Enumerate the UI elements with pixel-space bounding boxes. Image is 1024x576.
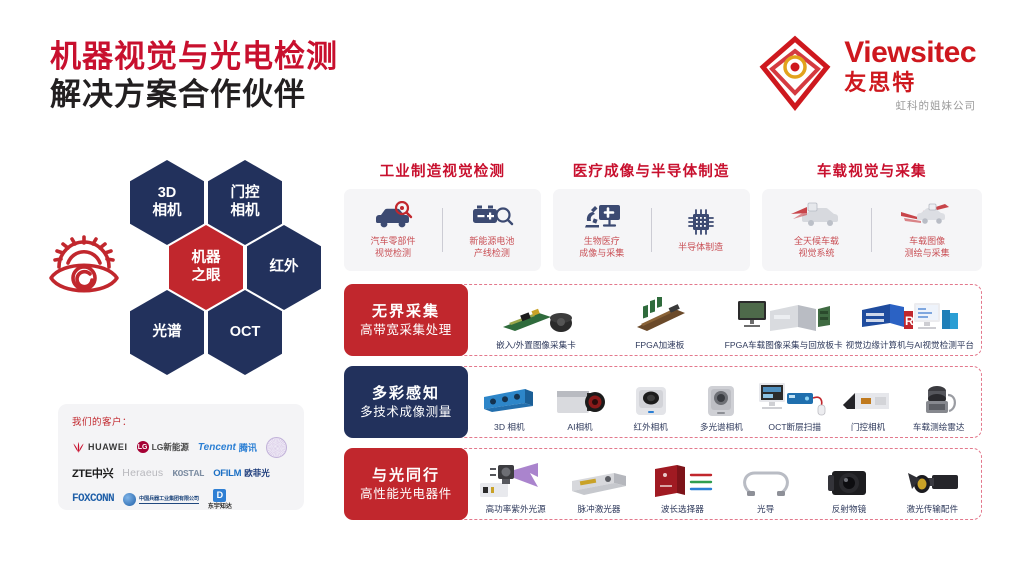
customers-panel: 我们的客户： HUAWEI LG LG新能源 [58,404,304,510]
product-label: FPGA加速板 [635,340,684,350]
product-row-imaging: 多彩感知 多技术成像测量 3D 相机 [344,366,982,438]
row-badge-title: 无界采集 [372,302,440,322]
category-cell-label: 全天候车载 视觉系统 [794,235,839,259]
customers-title: 我们的客户： [72,414,292,428]
edge-ai-platform-icon: R [860,297,960,337]
product-item[interactable]: 红外相机 [615,366,686,438]
product-label: 多光谱相机 [700,422,743,432]
row-badge-subtitle: 高性能光电器件 [360,486,452,502]
category-cell[interactable]: 车载图像 测绘与采集 [872,201,982,259]
product-item[interactable]: 车载测绘雷达 [903,366,974,438]
product-rows: 无界采集 高带宽采集处理 [344,284,982,530]
page-title-line2: 解决方案合作伙伴 [50,76,338,114]
category-cell-label: 新能源电池 产线检测 [469,235,514,259]
product-label: 3D 相机 [494,422,525,432]
wavelength-selector-icon [649,461,715,501]
slide-root: 机器视觉与光电检测 解决方案合作伙伴 Viewsitec 友思特 虹科的姐妹公司 [0,0,1024,576]
3d-camera-icon [481,379,537,419]
hex-infrared[interactable]: 红外 [247,225,321,310]
microscope-monitor-icon [581,201,623,231]
category-body: 全天候车载 视觉系统 [762,189,982,271]
uv-light-source-icon [478,461,554,501]
battery-inspection-icon [470,201,514,231]
huawei-wordmark: HUAWEI [88,442,128,452]
product-item[interactable]: 反射物镜 [807,448,890,520]
hex-label-line2: 相机 [231,203,260,220]
fpga-automotive-capture-icon [736,297,832,337]
lg-energy-wordmark: LG新能源 [152,441,189,453]
product-label: 激光传输配件 [907,504,959,514]
hex-label-line1: 光谱 [153,324,182,341]
product-item[interactable]: FPGA车载图像采集与回放板卡 [722,284,846,356]
norinco-wordmark: 中国兵器工业集团有限公司 [139,495,199,504]
brand-name-cn: 友思特 [844,70,976,95]
customer-logo-row: ZTE中兴 Heraeus KOSTAL OFILM 欧菲光 [72,461,292,485]
reflective-objective-icon [824,461,874,501]
huawei-logo: HUAWEI [72,441,128,453]
pulsed-laser-icon [568,461,630,501]
product-label: AI相机 [567,422,592,432]
lidar-car-icon [788,201,844,231]
product-label: 波长选择器 [661,504,704,514]
viewsitec-diamond-icon [756,34,834,112]
product-item[interactable]: 高功率紫外光源 [474,448,557,520]
product-label: OCT断层扫描 [768,422,821,432]
frame-grabber-card-icon [499,297,573,337]
hex-label-line1: 3D [158,185,177,202]
gated-camera-icon [841,379,895,419]
row-badge-acquisition[interactable]: 无界采集 高带宽采集处理 [344,284,468,356]
application-categories: 工业制造视觉检测 [344,160,982,271]
product-item[interactable]: 脉冲激光器 [557,448,640,520]
product-item[interactable]: 多光谱相机 [686,366,757,438]
hex-spectrum[interactable]: 光谱 [130,290,204,375]
row-items: 3D 相机 AI相机 [474,366,974,438]
ofilm-wordmark-cn: 欧菲光 [244,467,270,479]
page-title-line1: 机器视觉与光电检测 [50,38,338,76]
hex-label-line1: 门控 [231,185,260,202]
hex-3d-camera[interactable]: 3D 相机 [130,160,204,245]
light-guide-icon [739,461,793,501]
category-industrial: 工业制造视觉检测 [344,160,541,271]
brand-name-en: Viewsitec [844,38,976,68]
product-row-acquisition: 无界采集 高带宽采集处理 [344,284,982,356]
category-cell[interactable]: 新能源电池 产线检测 [443,201,541,259]
category-medical-semiconductor: 医疗成像与半导体制造 [553,160,750,271]
row-items: 嵌入/外置图像采集卡 [474,284,974,356]
category-cell[interactable]: 汽车零部件 视觉检测 [344,201,442,259]
product-label: 视觉边缘计算机与AI视觉检测平台 [846,340,974,350]
product-row-photonics: 与光同行 高性能光电器件 [344,448,982,520]
dongyu-wordmark: 东宇知达 [208,504,232,510]
hex-oct[interactable]: OCT [208,290,282,375]
hex-label-line2: 相机 [153,203,182,220]
row-badge-title: 与光同行 [372,466,440,486]
product-item[interactable]: AI相机 [545,366,616,438]
product-item[interactable]: 波长选择器 [641,448,724,520]
customer-logo-row: HUAWEI LG LG新能源 Tencent 腾讯 [72,435,292,459]
row-items: 高功率紫外光源 脉冲激光器 [474,448,974,520]
product-label: 光导 [757,504,774,514]
ofilm-wordmark: OFILM [213,468,241,479]
oct-scanner-icon [757,379,833,419]
laser-delivery-accessory-icon [902,461,962,501]
tencent-wordmark: Tencent [198,442,236,453]
row-badge-subtitle: 高带宽采集处理 [360,322,452,338]
product-item[interactable]: 激光传输配件 [891,448,974,520]
fpga-accelerator-board-icon [629,297,691,337]
customer-logo-row: FOXCONN 中国兵器工业集团有限公司 D 东宇知达 [72,487,292,511]
zte-logo: ZTE中兴 [72,465,113,481]
car-inspection-icon [373,201,413,231]
machine-eye-hex-cluster: 3D 相机 门控 相机 机器 之眼 红外 光谱 OCT [42,160,317,380]
huawei-flower-icon [72,441,85,453]
circular-seal-logo [266,437,287,458]
ai-camera-icon [553,379,607,419]
foxconn-logo: FOXCONN [72,493,114,505]
category-cell-label: 汽车零部件 视觉检测 [370,235,415,259]
product-item[interactable]: 3D 相机 [474,366,545,438]
product-item[interactable]: OCT断层扫描 [757,366,833,438]
row-badge-photonics[interactable]: 与光同行 高性能光电器件 [344,448,468,520]
category-body: 生物医疗 成像与采集 [553,189,750,271]
product-label: FPGA车载图像采集与回放板卡 [725,340,843,350]
norinco-logo: 中国兵器工业集团有限公司 [123,493,199,506]
infrared-camera-icon [631,379,671,419]
tencent-wordmark-cn: 腾讯 [239,441,257,454]
product-label: 红外相机 [633,422,667,432]
product-label: 反射物镜 [832,504,866,514]
hex-label-line2: 之眼 [192,268,221,285]
category-cell-label: 车载图像 测绘与采集 [905,235,950,259]
kostal-logo: KOSTAL [172,468,204,479]
brand-tagline: 虹科的姐妹公司 [844,98,976,113]
multispectral-camera-icon [702,379,740,419]
category-body: 汽车零部件 视觉检测 [344,189,541,271]
globe-icon [123,493,136,506]
category-cell[interactable]: 半导体制造 [652,207,750,253]
category-cell[interactable]: 全天候车载 视觉系统 [762,201,872,259]
hex-label-line1: 机器 [192,250,221,267]
product-label: 高功率紫外光源 [486,504,546,514]
tencent-logo: Tencent 腾讯 [198,441,257,454]
product-label: 嵌入/外置图像采集卡 [496,340,576,350]
product-item[interactable]: 门控相机 [833,366,904,438]
semiconductor-chip-icon [685,207,717,237]
row-badge-subtitle: 多技术成像测量 [360,404,452,420]
product-label: 脉冲激光器 [578,504,621,514]
hex-label-line1: 红外 [270,259,299,276]
product-label: 门控相机 [851,422,885,432]
eye-gear-icon [46,230,122,306]
dongyu-mark-icon: D [213,489,226,502]
product-item[interactable]: R 视觉边缘计算机与AI视觉检测平台 [846,284,974,356]
category-cell-label: 半导体制造 [678,241,723,253]
product-item[interactable]: FPGA加速板 [598,284,722,356]
row-badge-imaging[interactable]: 多彩感知 多技术成像测量 [344,366,468,438]
category-cell-label: 生物医疗 成像与采集 [579,235,624,259]
category-title: 医疗成像与半导体制造 [553,160,750,181]
category-automotive: 车载视觉与采集 [762,160,982,271]
brand-logo: Viewsitec 友思特 虹科的姐妹公司 [756,34,976,113]
lg-circle-icon: LG [137,441,149,453]
ofilm-logo: OFILM 欧菲光 [213,467,270,479]
vehicle-lidar-icon [917,379,961,419]
dongyu-logo: D 东宇知达 [208,489,232,510]
category-title: 工业制造视觉检测 [344,160,541,181]
product-item[interactable]: 光导 [724,448,807,520]
heraeus-logo: Heraeus [122,467,163,479]
svg-text:R: R [905,314,914,328]
hex-label-line1: OCT [230,324,261,341]
category-title: 车载视觉与采集 [762,160,982,181]
category-cell[interactable]: 生物医疗 成像与采集 [553,201,651,259]
row-badge-title: 多彩感知 [372,384,440,404]
hex-gated-camera[interactable]: 门控 相机 [208,160,282,245]
product-item[interactable]: 嵌入/外置图像采集卡 [474,284,598,356]
product-label: 车载测绘雷达 [913,422,965,432]
survey-car-icon [899,201,955,231]
brand-logo-text: Viewsitec 友思特 虹科的姐妹公司 [844,34,976,113]
lg-energy-logo: LG LG新能源 [137,441,189,453]
page-title: 机器视觉与光电检测 解决方案合作伙伴 [50,38,338,114]
hex-machine-eye[interactable]: 机器 之眼 [169,225,243,310]
